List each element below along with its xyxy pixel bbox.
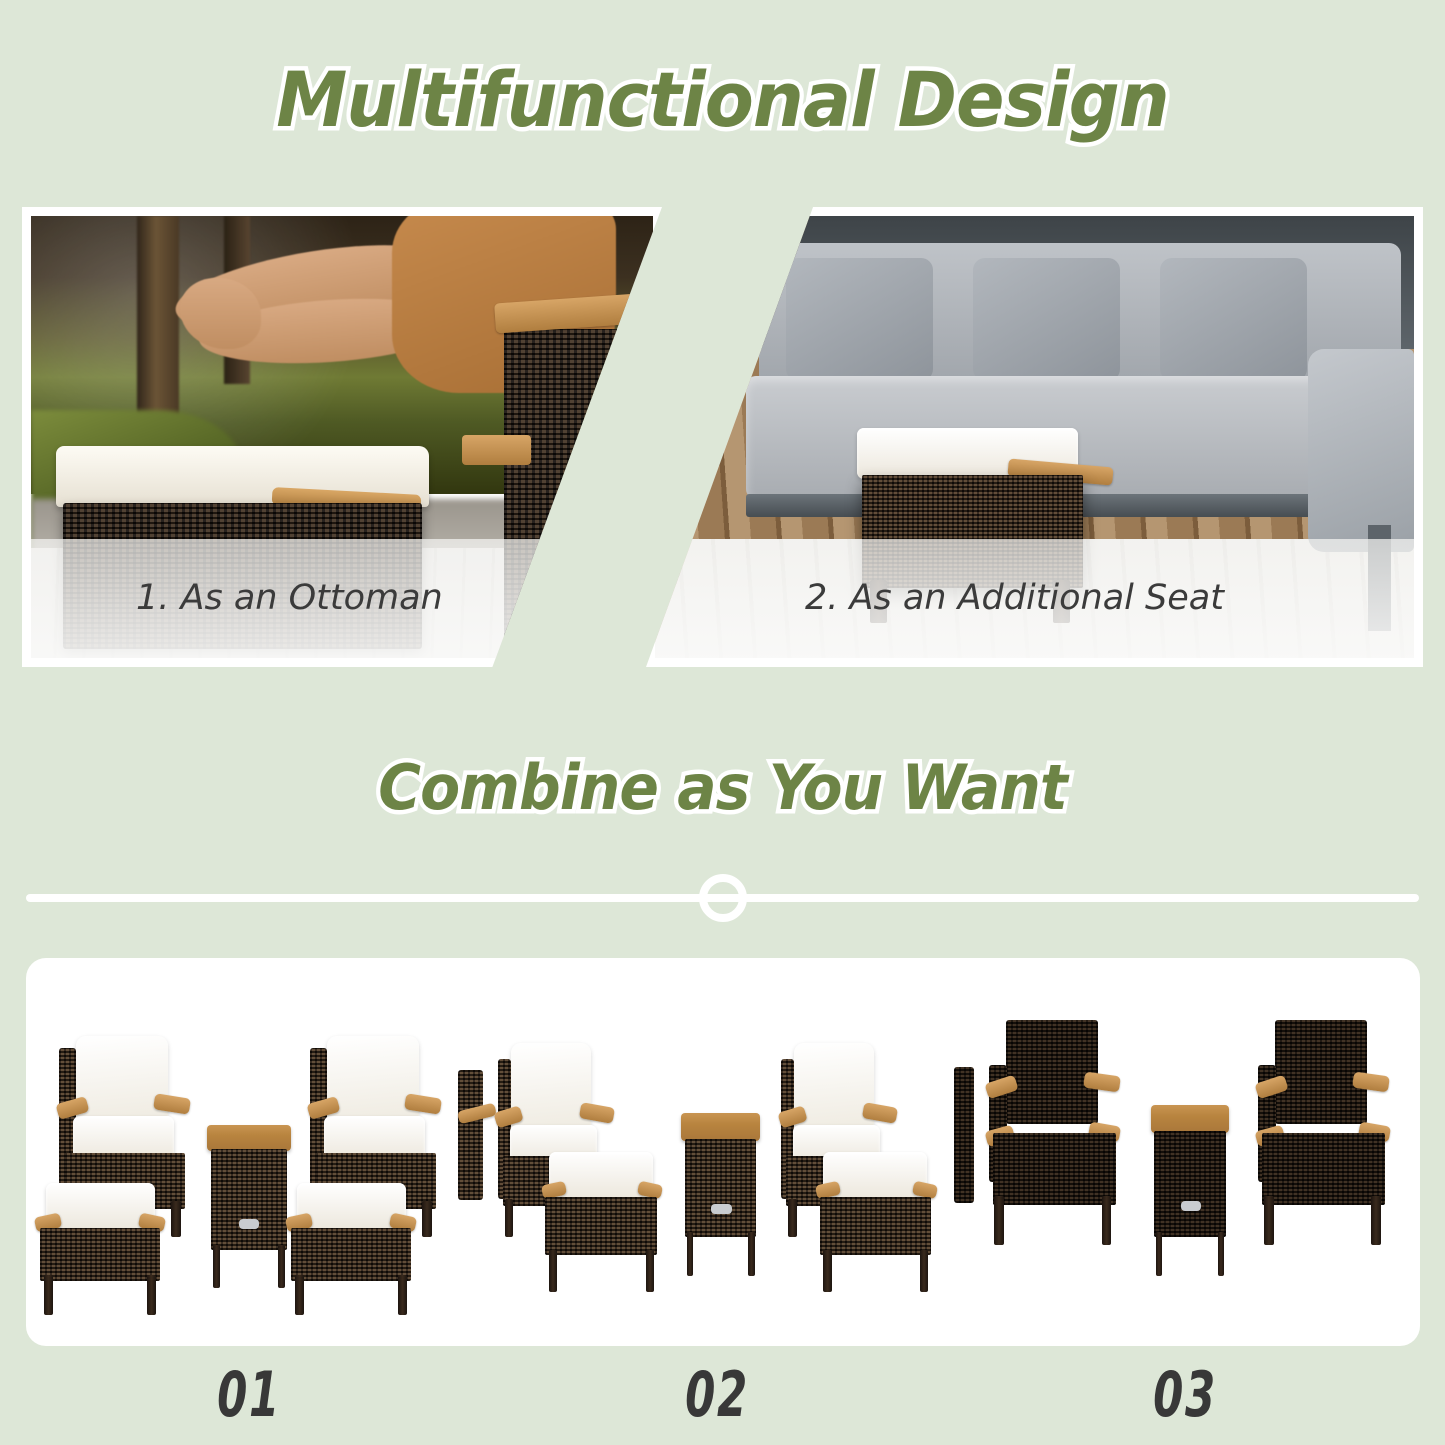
combination-01[interactable] xyxy=(26,958,491,1346)
chair-back-pillow xyxy=(511,1043,591,1128)
ottoman-attached xyxy=(542,1152,663,1292)
ottoman-leg xyxy=(823,1250,831,1292)
photo-card-ottoman[interactable]: 1. As an Ottoman xyxy=(22,207,662,667)
divider-circle-icon xyxy=(699,874,747,922)
chair-leg xyxy=(505,1199,513,1238)
combination-02[interactable] xyxy=(491,958,956,1346)
chair-backrest xyxy=(1275,1020,1367,1124)
photo-caption-additional-seat: 2. As an Additional Seat xyxy=(655,578,1414,618)
wood-table-edge xyxy=(462,435,531,465)
ottoman-wicker-body xyxy=(40,1228,160,1281)
ottoman-leg xyxy=(920,1250,928,1292)
table-wicker-body xyxy=(685,1139,756,1237)
combination-03[interactable] xyxy=(955,958,1420,1346)
combination-number-03: 03 xyxy=(1150,1358,1220,1431)
page-title-combine: Combine as You Want xyxy=(43,757,1401,819)
chair-no-cushion xyxy=(983,1020,1122,1245)
caption-overlay-ottoman: 1. As an Ottoman xyxy=(31,539,653,658)
side-table xyxy=(681,1113,760,1276)
chair-leg xyxy=(422,1201,432,1237)
ottoman-attached xyxy=(816,1152,937,1292)
side-table xyxy=(1151,1105,1230,1276)
chair-side-panel xyxy=(458,1070,483,1200)
chair-leg xyxy=(1102,1196,1112,1246)
table-leg xyxy=(1218,1232,1224,1276)
brand-badge xyxy=(1181,1201,1202,1211)
page-title-multifunctional: Multifunctional Design xyxy=(43,62,1401,138)
chair-no-cushion xyxy=(1253,1020,1392,1245)
chair-leg xyxy=(1264,1196,1274,1246)
chair-leg xyxy=(788,1199,796,1238)
ottoman-wicker-body xyxy=(545,1197,656,1256)
table-wood-top xyxy=(681,1113,760,1141)
table-leg xyxy=(278,1245,285,1287)
chair-side-panel xyxy=(954,1067,974,1204)
ottoman-leg xyxy=(295,1275,304,1315)
sofa-pillow xyxy=(973,258,1120,381)
photo-caption-ottoman: 1. As an Ottoman xyxy=(31,578,443,618)
side-table xyxy=(207,1125,291,1288)
ottoman xyxy=(35,1183,165,1315)
photo-extra-seat-image: 2. As an Additional Seat xyxy=(655,216,1414,658)
brand-badge xyxy=(239,1219,259,1229)
photo-ottoman-image: 1. As an Ottoman xyxy=(31,216,653,658)
brand-badge xyxy=(711,1204,732,1214)
chair-backrest xyxy=(1006,1020,1098,1124)
ottoman-leg xyxy=(646,1250,654,1292)
chair-wicker-body xyxy=(504,329,653,641)
table-leg xyxy=(213,1245,220,1287)
combination-number-01: 01 xyxy=(214,1358,284,1431)
table-leg xyxy=(1156,1232,1162,1276)
table-wicker-body xyxy=(1154,1131,1225,1237)
wood-armrest xyxy=(494,293,653,334)
ottoman-leg xyxy=(398,1275,407,1315)
photo-card-additional-seat[interactable]: 2. As an Additional Seat xyxy=(646,207,1423,667)
chair-partial xyxy=(941,1067,974,1238)
ottoman-leg xyxy=(147,1275,156,1315)
ottoman-leg xyxy=(44,1275,53,1315)
chair-leg xyxy=(171,1201,181,1237)
ottoman-leg xyxy=(549,1250,557,1292)
table-leg xyxy=(687,1232,693,1276)
combination-number-02: 02 xyxy=(682,1358,752,1431)
caption-overlay-additional-seat: 2. As an Additional Seat xyxy=(655,539,1414,658)
chair-wicker-base xyxy=(993,1133,1116,1205)
tree-trunk-icon xyxy=(137,216,179,419)
sofa-pillow xyxy=(1160,258,1307,381)
combinations-card xyxy=(26,958,1420,1346)
table-leg xyxy=(748,1232,754,1276)
chair-leg xyxy=(994,1196,1004,1246)
photo-band: 1. As an Ottoman xyxy=(22,207,1423,667)
sofa-pillow xyxy=(786,258,933,381)
grey-chair-partial xyxy=(1308,349,1414,552)
ottoman xyxy=(286,1183,416,1315)
chair-wicker-base xyxy=(1262,1133,1385,1205)
chair-partial xyxy=(504,260,653,640)
table-wood-top xyxy=(207,1125,291,1151)
chair-leg xyxy=(1371,1196,1381,1246)
ottoman-wicker-body xyxy=(820,1197,931,1256)
ottoman-wicker-body xyxy=(291,1228,411,1281)
table-wicker-body xyxy=(211,1149,286,1250)
table-wood-top xyxy=(1151,1105,1230,1132)
